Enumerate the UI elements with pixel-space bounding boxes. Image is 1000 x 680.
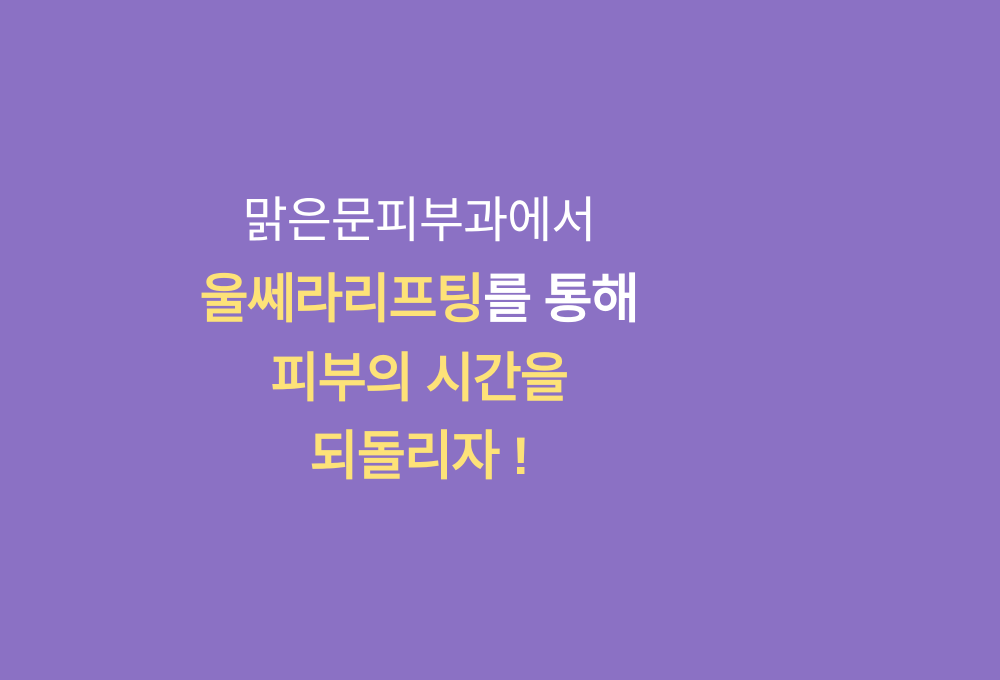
promo-banner: 맑은문피부과에서 울쎄라리프팅를 통해 피부의 시간을 되돌리자 ! xyxy=(0,0,1000,680)
headline-line-2-accent: 울쎄라리프팅 xyxy=(200,270,484,329)
headline-line-4: 되돌리자 ! xyxy=(0,418,838,496)
headline-block: 맑은문피부과에서 울쎄라리프팅를 통해 피부의 시간을 되돌리자 ! xyxy=(0,182,838,496)
headline-line-3: 피부의 시간을 xyxy=(0,340,838,418)
headline-line-2-plain: 를 통해 xyxy=(483,270,638,329)
headline-line-2: 울쎄라리프팅를 통해 xyxy=(0,260,838,340)
headline-line-1: 맑은문피부과에서 xyxy=(0,182,838,260)
